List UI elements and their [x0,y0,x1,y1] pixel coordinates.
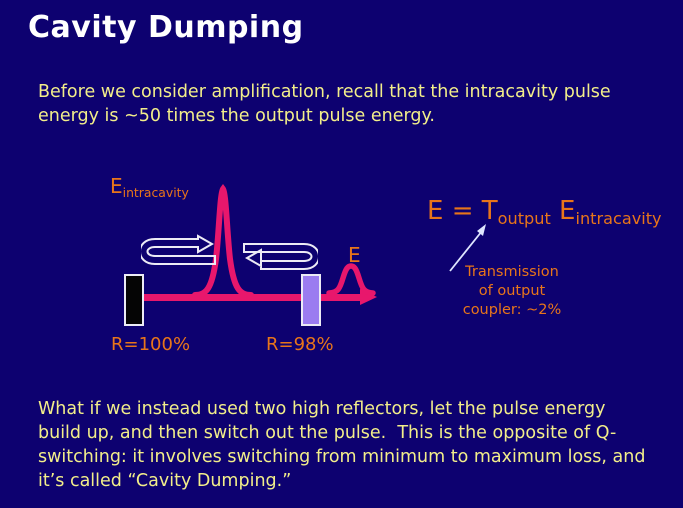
mirror-output-coupler [301,274,321,326]
intro-paragraph: Before we consider amplification, recall… [38,80,656,128]
label-e-intracavity-subscript: intracavity [123,185,189,200]
label-e-output: E [348,243,361,267]
cyclic-arrow-left-icon [240,240,318,274]
equation-lhs-subscript: output [498,209,551,228]
label-reflectivity-left: R=100% [111,334,190,355]
conclusion-paragraph: What if we instead used two high reflect… [38,397,652,493]
label-reflectivity-right: R=98% [266,334,334,355]
label-e-intracavity-base: E [110,174,123,198]
mirror-high-reflector [124,274,144,326]
label-e-intracavity: Eintracavity [110,174,189,198]
equation-rhs-subscript: intracavity [575,209,661,228]
page-title: Cavity Dumping [28,10,304,45]
annotation-transmission: Transmission of output coupler: ~2% [424,263,600,320]
equation-rhs: E [551,196,576,226]
small-pulse-icon [326,262,376,296]
cyclic-arrow-right-icon [141,234,219,268]
slide-canvas: Cavity Dumping Before we consider amplif… [0,0,683,508]
